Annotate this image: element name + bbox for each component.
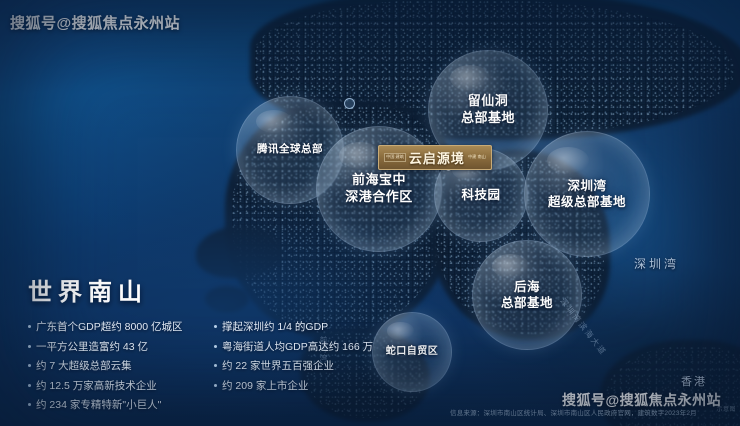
panel-title: 世界南山: [28, 272, 358, 307]
statistic-text: 粤海街道人均GDP高达约 166 万: [222, 341, 373, 354]
statistic-item: 一平方公里造富约 43 亿: [28, 341, 206, 354]
badge-seal-right-icon: 中建 南山: [468, 155, 486, 160]
bubble-label-liuxiandong-hq: 留仙洞 总部基地: [461, 93, 515, 126]
watermark-bottom: 搜狐号@搜狐焦点永州站: [562, 390, 721, 410]
statistic-item: 约 234 家专精特新"小巨人": [28, 399, 206, 412]
statistic-text: 约 7 大超级总部云集: [36, 360, 132, 373]
bullet-dot-icon: [214, 364, 217, 367]
watermark-top: 搜狐号@搜狐焦点永州站: [10, 12, 180, 33]
bullet-dot-icon: [214, 384, 217, 387]
statistic-item: 广东首个GDP超约 8000 亿城区: [28, 321, 206, 334]
bullet-dot-icon: [214, 345, 217, 348]
map-label-hong-kong: 香港: [681, 373, 707, 389]
badge-seal-left-icon: 中国 建筑: [384, 153, 406, 161]
bubble-label-shenzhen-bay-hq: 深圳湾 超级总部基地: [548, 178, 626, 210]
bubble-label-tencent-hq: 腾讯全球总部: [257, 143, 323, 156]
statistic-text: 约 209 家上市企业: [222, 380, 308, 393]
info-panel: 世界南山 广东首个GDP超约 8000 亿城区 一平方公里造富约 43 亿 约 …: [28, 272, 358, 412]
bubble-label-keji-park: 科技园: [461, 187, 500, 203]
bubble-label-qianhai-baozhong: 前海宝中 深港合作区: [345, 172, 413, 205]
bullet-dot-icon: [28, 403, 31, 406]
statistic-item: 约 22 家世界五百强企业: [214, 360, 358, 373]
statistic-item: 约 12.5 万家高新技术企业: [28, 380, 206, 393]
statistic-text: 约 234 家专精特新"小巨人": [36, 399, 161, 412]
statistic-item: 撑起深圳约 1/4 的GDP: [214, 321, 358, 334]
project-name-badge[interactable]: 中国 建筑 云启源境 中建 南山: [378, 145, 492, 170]
statistic-item: 粤海街道人均GDP高达约 166 万: [214, 341, 358, 354]
bubble-label-shekou-ftz: 蛇口自贸区: [386, 346, 439, 359]
bubble-shekou-ftz[interactable]: 蛇口自贸区: [372, 312, 452, 392]
bullet-dot-icon: [28, 325, 31, 328]
map-label-shenzhen-bay: 深圳湾: [634, 255, 679, 272]
bullet-dot-icon: [28, 384, 31, 387]
bullet-dot-icon: [28, 345, 31, 348]
bullet-dot-icon: [28, 364, 31, 367]
statistic-text: 约 12.5 万家高新技术企业: [36, 380, 157, 393]
statistics-column-left: 广东首个GDP超约 8000 亿城区 一平方公里造富约 43 亿 约 7 大超级…: [28, 321, 206, 412]
map-marker-ring-icon: [344, 98, 355, 109]
statistic-item: 约 7 大超级总部云集: [28, 360, 206, 373]
statistic-text: 一平方公里造富约 43 亿: [36, 341, 148, 354]
statistic-item: 约 209 家上市企业: [214, 380, 358, 393]
bubble-shenzhen-bay-hq[interactable]: 深圳湾 超级总部基地: [524, 131, 650, 257]
statistic-text: 撑起深圳约 1/4 的GDP: [222, 321, 328, 334]
bubble-label-houhai-hq: 后海 总部基地: [501, 279, 553, 311]
badge-project-name: 云启源境: [409, 148, 465, 167]
bullet-dot-icon: [214, 325, 217, 328]
statistic-text: 约 22 家世界五百强企业: [222, 360, 334, 373]
statistic-text: 广东首个GDP超约 8000 亿城区: [36, 321, 182, 334]
statistics-column-right: 撑起深圳约 1/4 的GDP 粤海街道人均GDP高达约 166 万 约 22 家…: [214, 321, 358, 412]
infographic-canvas: 腾讯全球总部 留仙洞 总部基地 前海宝中 深港合作区 科技园 深圳湾 超级总部基…: [0, 0, 740, 426]
statistics-columns: 广东首个GDP超约 8000 亿城区 一平方公里造富约 43 亿 约 7 大超级…: [28, 321, 358, 412]
